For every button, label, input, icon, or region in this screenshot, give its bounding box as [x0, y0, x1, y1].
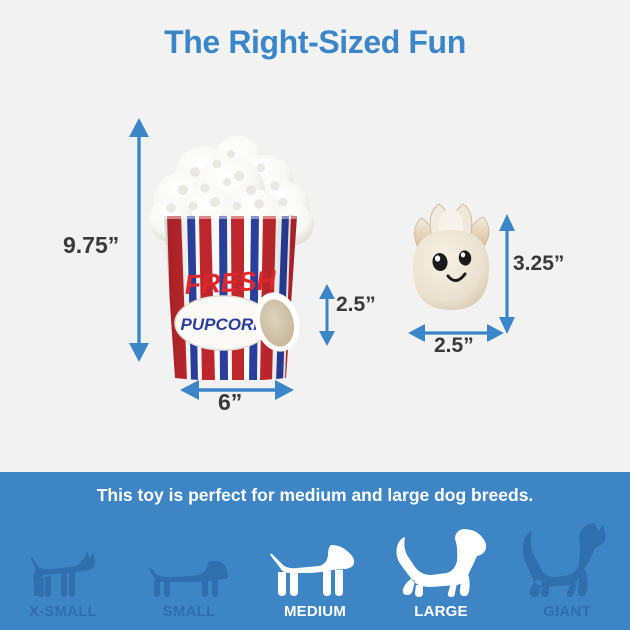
banner-headline: This toy is perfect for medium and large…	[0, 485, 630, 506]
breed-label-medium: MEDIUM	[284, 603, 346, 620]
page-title: The Right-Sized Fun	[0, 24, 630, 61]
width-label-large: 6”	[218, 389, 242, 416]
breed-item-small[interactable]: SMALL	[126, 512, 252, 630]
hole-arrow-large	[316, 284, 338, 346]
breed-item-medium[interactable]: MEDIUM	[252, 512, 378, 630]
hole-label-large: 2.5”	[336, 293, 376, 317]
popcorn-kernel-icon	[403, 196, 499, 324]
width-label-small: 2.5”	[434, 334, 474, 358]
breed-item-x-small[interactable]: X-SMALL	[0, 512, 126, 630]
kernel-body	[413, 230, 489, 310]
popcorn-bucket-icon: FRESH PUPCORN	[143, 132, 318, 380]
breed-item-large[interactable]: LARGE	[378, 512, 504, 630]
breed-size-row: X-SMALL SMALL MEDIUM	[0, 512, 630, 630]
breed-label-large: LARGE	[414, 603, 468, 620]
golden-retriever-icon	[391, 519, 491, 601]
height-arrow-large	[126, 118, 152, 362]
bull-terrier-icon	[269, 519, 361, 601]
product-label-text: PUPCORN	[180, 315, 266, 334]
dachshund-icon	[146, 519, 232, 601]
breed-item-giant[interactable]: GIANT	[504, 512, 630, 630]
breed-label-small: SMALL	[163, 603, 216, 620]
breed-label-giant: GIANT	[543, 603, 591, 620]
breed-size-banner: This toy is perfect for medium and large…	[0, 472, 630, 630]
height-label-small: 3.25”	[513, 252, 564, 276]
chihuahua-icon	[27, 519, 99, 601]
height-label-large: 9.75”	[63, 232, 119, 259]
breed-label-x-small: X-SMALL	[29, 603, 97, 620]
product-size-infographic: The Right-Sized Fun	[0, 0, 630, 630]
great-dane-icon	[519, 519, 615, 601]
brand-text: FRESH	[184, 265, 277, 300]
